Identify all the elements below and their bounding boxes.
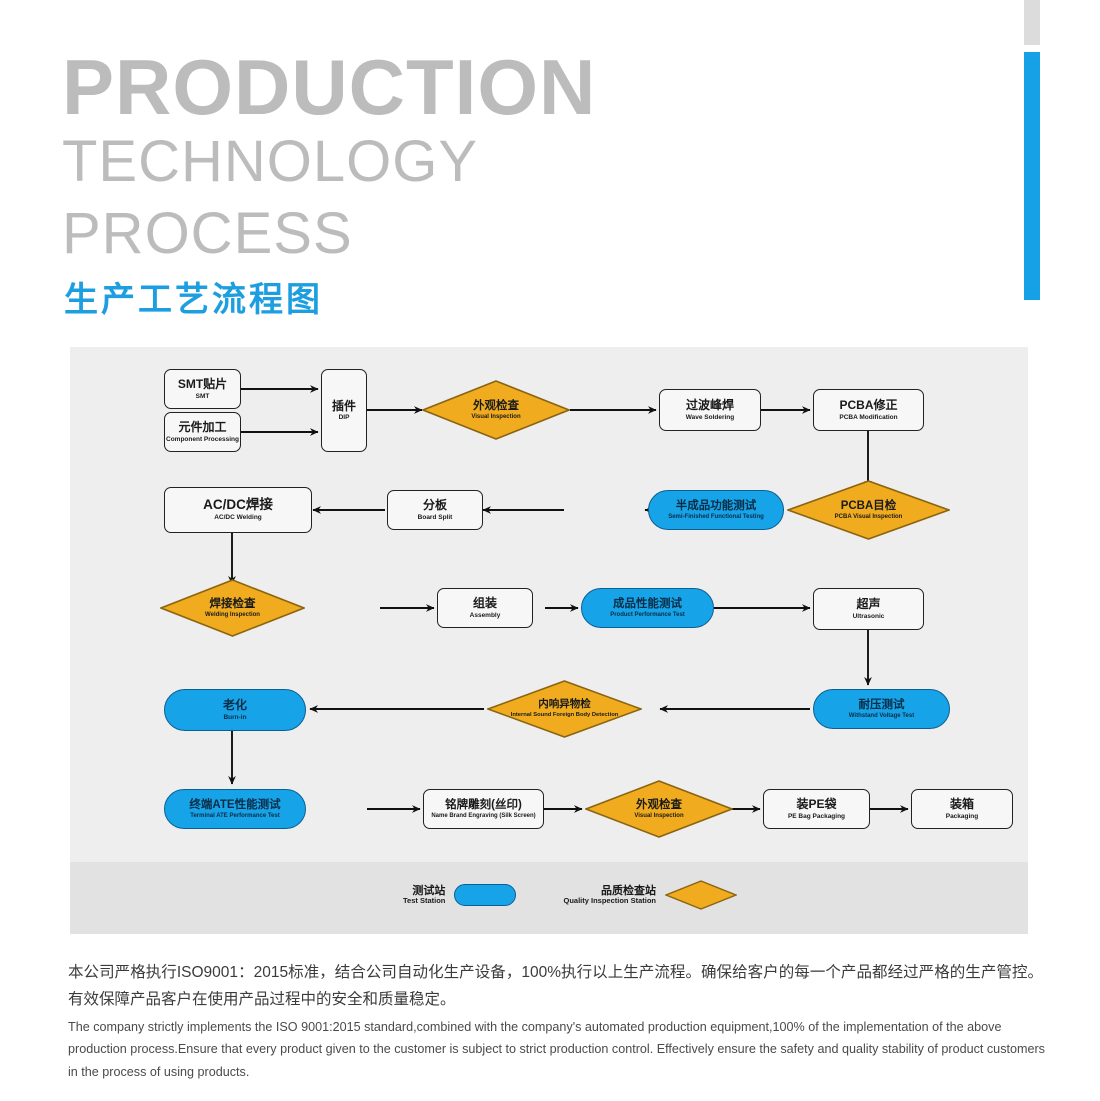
- page-title-production: PRODUCTION: [62, 48, 596, 126]
- node-pcba-visual-inspection[interactable]: PCBA目检 PCBA Visual Inspection: [787, 480, 950, 540]
- node-semi-finished-functional-testing[interactable]: 半成品功能测试 Semi-Finished Functional Testing: [648, 490, 784, 530]
- node-withstand-voltage-test-en: Withstand Voltage Test: [849, 713, 914, 720]
- node-dip[interactable]: 插件 DIP: [321, 369, 367, 452]
- node-terminal-ate-performance-test[interactable]: 终端ATE性能测试 Terminal ATE Performance Test: [164, 789, 306, 829]
- node-packaging-cn: 装箱: [950, 798, 974, 811]
- diamond-shape: [787, 480, 950, 540]
- node-assembly-en: Assembly: [470, 612, 501, 619]
- node-burn-in-cn: 老化: [223, 699, 247, 712]
- node-wave-soldering-cn: 过波峰焊: [686, 399, 734, 412]
- node-burn-in-en: Burn-in: [223, 714, 246, 721]
- node-pe-bag-packaging[interactable]: 装PE袋 PE Bag Packaging: [763, 789, 870, 829]
- node-acdc-welding-cn: AC/DC焊接: [203, 498, 273, 512]
- node-ultrasonic[interactable]: 超声 Ultrasonic: [813, 588, 924, 630]
- node-packaging[interactable]: 装箱 Packaging: [911, 789, 1013, 829]
- page-subtitle-chinese: 生产工艺流程图: [64, 283, 323, 317]
- node-component-processing-cn: 元件加工: [178, 421, 226, 434]
- node-pcba-modification-en: PCBA Modification: [839, 414, 897, 421]
- node-product-performance-test[interactable]: 成品性能测试 Product Performance Test: [581, 588, 714, 628]
- node-burn-in[interactable]: 老化 Burn-in: [164, 689, 306, 731]
- footer-paragraph-chinese: 本公司严格执行ISO9001：2015标准，结合公司自动化生产设备，100%执行…: [68, 960, 1043, 1013]
- diamond-shape: [422, 380, 570, 440]
- node-semi-finished-functional-testing-en: Semi-Finished Functional Testing: [668, 514, 764, 521]
- node-pcba-modification-cn: PCBA修正: [839, 399, 897, 412]
- node-pe-bag-packaging-cn: 装PE袋: [796, 798, 836, 811]
- node-smt-cn: SMT贴片: [178, 378, 227, 391]
- node-ultrasonic-cn: 超声: [856, 598, 880, 611]
- node-dip-cn: 插件: [332, 400, 356, 413]
- node-board-split[interactable]: 分板 Board Split: [387, 490, 483, 530]
- legend-diamond-swatch: [665, 880, 737, 910]
- node-product-performance-test-cn: 成品性能测试: [613, 598, 682, 610]
- legend-panel: 测试站 Test Station 品质检查站 Quality Inspectio…: [70, 862, 1028, 934]
- node-wave-soldering-en: Wave Soldering: [686, 414, 735, 421]
- legend-quality-inspection-text: 品质检查站 Quality Inspection Station: [548, 885, 656, 905]
- diamond-shape: [585, 780, 733, 838]
- node-ultrasonic-en: Ultrasonic: [853, 613, 885, 620]
- node-product-performance-test-en: Product Performance Test: [610, 612, 685, 619]
- node-terminal-ate-performance-test-cn: 终端ATE性能测试: [189, 799, 280, 811]
- footer-paragraph-english: The company strictly implements the ISO …: [68, 1016, 1048, 1083]
- node-pcba-modification[interactable]: PCBA修正 PCBA Modification: [813, 389, 924, 431]
- node-board-split-en: Board Split: [418, 514, 453, 521]
- node-dip-en: DIP: [339, 414, 350, 421]
- flowchart-panel: SMT贴片 SMT 元件加工 Component Processing 插件 D…: [70, 347, 1028, 862]
- accent-bar-gray: [1024, 0, 1040, 45]
- node-visual-inspection-1[interactable]: 外观检查 Visual Inspection: [422, 380, 570, 440]
- node-smt[interactable]: SMT贴片 SMT: [164, 369, 241, 409]
- node-pe-bag-packaging-en: PE Bag Packaging: [788, 813, 845, 820]
- node-terminal-ate-performance-test-en: Terminal ATE Performance Test: [190, 813, 279, 820]
- node-wave-soldering[interactable]: 过波峰焊 Wave Soldering: [659, 389, 761, 431]
- legend-item-test-station: 测试站 Test Station: [403, 884, 516, 906]
- page-title-technology: TECHNOLOGY: [62, 133, 478, 191]
- accent-bar-blue: [1024, 52, 1040, 300]
- node-name-brand-engraving[interactable]: 铭牌雕刻(丝印) Name Brand Engraving (Silk Scre…: [423, 789, 544, 829]
- page-title-process: PROCESS: [62, 205, 353, 263]
- node-semi-finished-functional-testing-cn: 半成品功能测试: [676, 500, 757, 512]
- legend-test-station-en: Test Station: [403, 897, 445, 905]
- legend-pill-swatch: [454, 884, 516, 906]
- node-smt-en: SMT: [196, 393, 210, 400]
- node-acdc-welding-en: AC/DC Welding: [214, 514, 262, 521]
- node-assembly[interactable]: 组装 Assembly: [437, 588, 533, 628]
- node-visual-inspection-2[interactable]: 外观检查 Visual Inspection: [585, 780, 733, 838]
- node-withstand-voltage-test-cn: 耐压测试: [859, 699, 905, 711]
- node-board-split-cn: 分板: [423, 499, 447, 512]
- diamond-shape: [160, 579, 305, 637]
- node-packaging-en: Packaging: [946, 813, 979, 820]
- node-assembly-cn: 组装: [473, 597, 497, 610]
- diamond-shape: [487, 680, 642, 738]
- node-welding-inspection[interactable]: 焊接检查 Welding Inspection: [160, 579, 305, 637]
- node-name-brand-engraving-cn: 铭牌雕刻(丝印): [445, 799, 522, 811]
- legend-quality-inspection-en: Quality Inspection Station: [548, 897, 656, 905]
- node-withstand-voltage-test[interactable]: 耐压测试 Withstand Voltage Test: [813, 689, 950, 729]
- page-root: PRODUCTION TECHNOLOGY PROCESS 生产工艺流程图: [0, 0, 1100, 1101]
- node-internal-sound-foreign-body-detection[interactable]: 内响异物检 Internal Sound Foreign Body Detect…: [487, 680, 642, 738]
- node-component-processing-en: Component Processing: [166, 436, 239, 443]
- legend-item-quality-inspection-station: 品质检查站 Quality Inspection Station: [548, 880, 737, 910]
- node-component-processing[interactable]: 元件加工 Component Processing: [164, 412, 241, 452]
- node-name-brand-engraving-en: Name Brand Engraving (Silk Screen): [431, 813, 535, 820]
- legend-test-station-text: 测试站 Test Station: [403, 885, 445, 905]
- node-acdc-welding[interactable]: AC/DC焊接 AC/DC Welding: [164, 487, 312, 533]
